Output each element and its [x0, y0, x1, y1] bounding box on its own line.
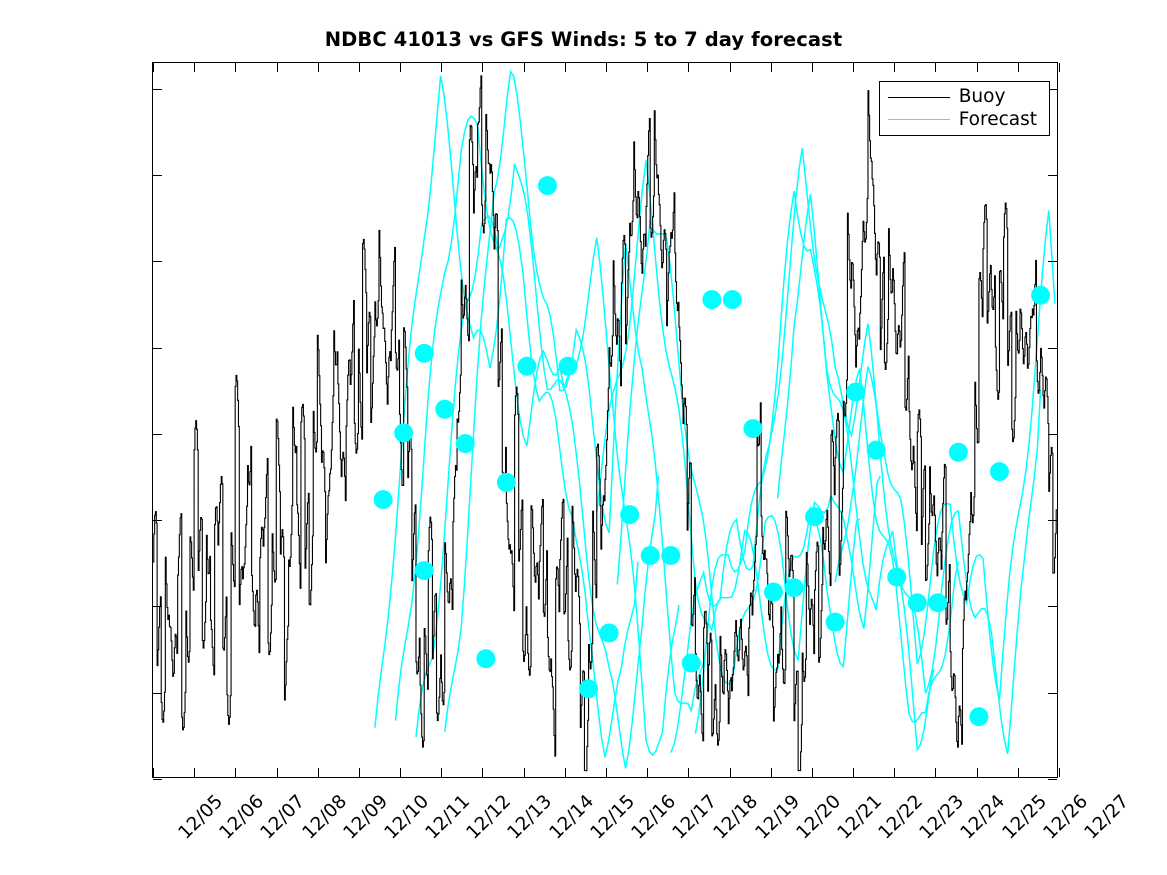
forecast-marker-point	[887, 568, 906, 587]
y-axis-tick-mark	[1048, 434, 1057, 435]
x-axis-tick-mark	[977, 63, 978, 72]
forecast-marker-point	[641, 546, 660, 565]
buoy-series-group	[153, 76, 1057, 771]
x-axis-tick-mark	[812, 63, 813, 72]
figure-canvas: NDBC 41013 vs GFS Winds: 5 to 7 day fore…	[0, 0, 1167, 875]
x-axis-tick-mark	[935, 63, 936, 72]
y-axis-tick-mark	[153, 434, 162, 435]
x-axis-tick-mark	[153, 63, 154, 72]
forecast-marker-point	[928, 593, 947, 612]
x-axis-tick-mark	[688, 768, 689, 777]
y-axis-tick-mark	[153, 606, 162, 607]
y-axis-tick-mark	[153, 693, 162, 694]
x-axis-tick-label: 12/15	[586, 791, 639, 844]
x-axis-tick-label: 12/09	[339, 791, 392, 844]
x-axis-tick-label: 12/07	[257, 791, 310, 844]
x-axis-tick-mark	[359, 768, 360, 777]
forecast-marker-point	[723, 290, 742, 309]
x-axis-tick-label: 12/06	[216, 791, 269, 844]
forecast-marker-point	[949, 443, 968, 462]
x-axis-tick-label: 12/17	[669, 791, 722, 844]
y-axis-tick-mark	[1048, 348, 1057, 349]
y-axis-tick-mark	[1048, 606, 1057, 607]
x-axis-tick-mark	[1059, 63, 1060, 72]
legend-line-forecast	[888, 119, 950, 120]
x-axis-tick-mark	[894, 768, 895, 777]
x-axis-tick-mark	[482, 63, 483, 72]
x-axis-tick-mark	[194, 63, 195, 72]
legend-entry-forecast: Forecast	[888, 111, 1037, 130]
forecast-marker-point	[497, 473, 516, 492]
x-axis-tick-mark	[935, 768, 936, 777]
y-axis-tick-mark	[153, 175, 162, 176]
x-axis-tick-mark	[235, 768, 236, 777]
forecast-marker-point	[702, 290, 721, 309]
x-axis-tick-mark	[153, 768, 154, 777]
x-axis-tick-mark	[606, 768, 607, 777]
y-axis-tick-mark	[153, 89, 162, 90]
x-axis-tick-mark	[730, 768, 731, 777]
forecast-marker-point	[538, 176, 557, 195]
x-axis-tick-mark	[441, 768, 442, 777]
x-axis-tick-mark	[977, 768, 978, 777]
chart-legend[interactable]: Buoy Forecast	[879, 81, 1050, 136]
chart-svg	[153, 63, 1057, 777]
forecast-marker-point	[559, 357, 578, 376]
x-axis-tick-label: 12/25	[998, 791, 1051, 844]
forecast-marker-point	[826, 613, 845, 632]
forecast-marker-point	[682, 654, 701, 673]
x-axis-tick-mark	[894, 63, 895, 72]
x-axis-tick-label: 12/14	[545, 791, 598, 844]
legend-line-buoy	[888, 97, 950, 98]
x-axis-tick-mark	[565, 63, 566, 72]
x-axis-tick-label: 12/10	[381, 791, 434, 844]
x-axis-tick-label: 12/19	[751, 791, 804, 844]
x-axis-tick-label: 12/24	[957, 791, 1010, 844]
x-axis-tick-label: 12/22	[875, 791, 928, 844]
forecast-marker-point	[415, 344, 434, 363]
x-axis-tick-mark	[812, 768, 813, 777]
x-axis-tick-label: 12/26	[1039, 791, 1092, 844]
forecast-marker-point	[846, 383, 865, 402]
x-axis-tick-mark	[482, 768, 483, 777]
x-axis-tick-label: 12/20	[792, 791, 845, 844]
x-axis-tick-mark	[688, 63, 689, 72]
forecast-marker-point	[661, 546, 680, 565]
forecast-marker-point	[456, 434, 475, 453]
forecast-marker-point	[908, 593, 927, 612]
x-axis-tick-label: 12/16	[628, 791, 681, 844]
x-axis-tick-label: 12/13	[504, 791, 557, 844]
forecast-marker-point	[785, 578, 804, 597]
legend-label-buoy: Buoy	[959, 88, 1006, 107]
x-axis-tick-mark	[730, 63, 731, 72]
forecast-member-line	[445, 72, 708, 732]
forecast-marker-point	[867, 441, 886, 460]
x-axis-tick-label: 12/05	[175, 791, 228, 844]
x-axis-tick-mark	[400, 63, 401, 72]
x-axis-tick-mark	[359, 63, 360, 72]
forecast-marker-point	[476, 649, 495, 668]
x-axis-tick-mark	[1059, 768, 1060, 777]
x-axis-tick-mark	[318, 63, 319, 72]
forecast-marker-point	[435, 400, 454, 419]
x-axis-tick-mark	[277, 63, 278, 72]
x-axis-tick-label: 12/08	[298, 791, 351, 844]
x-axis-tick-mark	[606, 63, 607, 72]
x-axis-tick-mark	[771, 768, 772, 777]
forecast-member-line	[695, 191, 958, 734]
x-axis-tick-label: 12/18	[710, 791, 763, 844]
chart-title: NDBC 41013 vs GFS Winds: 5 to 7 day fore…	[0, 28, 1167, 51]
forecast-marker-point	[969, 707, 988, 726]
x-axis-tick-mark	[277, 768, 278, 777]
y-axis-tick-mark	[153, 779, 162, 780]
y-axis-tick-mark	[1048, 779, 1057, 780]
x-axis-tick-mark	[441, 63, 442, 72]
y-axis-tick-mark	[1048, 520, 1057, 521]
plot-area: Buoy Forecast 0246810121416 12/0512/0612…	[152, 62, 1058, 778]
x-axis-tick-mark	[400, 768, 401, 777]
legend-entry-buoy: Buoy	[888, 88, 1037, 107]
forecast-marker-point	[743, 419, 762, 438]
forecast-marker-point	[579, 679, 598, 698]
x-axis-tick-mark	[194, 768, 195, 777]
x-axis-tick-label: 12/21	[834, 791, 887, 844]
forecast-marker-point	[1031, 286, 1050, 305]
x-axis-tick-mark	[235, 63, 236, 72]
forecast-marker-point	[374, 490, 393, 509]
forecast-marker-point	[415, 561, 434, 580]
x-axis-tick-label: 12/12	[463, 791, 516, 844]
x-axis-tick-mark	[1018, 63, 1019, 72]
x-axis-tick-mark	[853, 63, 854, 72]
y-axis-tick-mark	[1048, 261, 1057, 262]
forecast-marker-point	[805, 507, 824, 526]
y-axis-tick-mark	[153, 348, 162, 349]
forecast-member-line	[375, 76, 638, 758]
forecast-marker-point	[600, 623, 619, 642]
x-axis-tick-label: 12/23	[916, 791, 969, 844]
x-axis-tick-label: 12/11	[422, 791, 475, 844]
forecast-member-line	[597, 160, 860, 670]
legend-label-forecast: Forecast	[959, 111, 1037, 130]
y-axis-tick-mark	[153, 261, 162, 262]
x-axis-tick-mark	[565, 768, 566, 777]
x-axis-tick-mark	[1018, 768, 1019, 777]
forecast-marker-point	[620, 505, 639, 524]
x-axis-tick-mark	[647, 768, 648, 777]
x-axis-tick-mark	[524, 768, 525, 777]
y-axis-tick-mark	[153, 520, 162, 521]
forecast-marker-point	[764, 583, 783, 602]
x-axis-tick-label: 12/27	[1081, 791, 1134, 844]
forecast-marker-point	[394, 423, 413, 442]
y-axis-tick-mark	[1048, 693, 1057, 694]
y-axis-tick-mark	[1048, 175, 1057, 176]
x-axis-tick-mark	[853, 768, 854, 777]
forecast-member-line	[617, 220, 880, 684]
x-axis-tick-mark	[647, 63, 648, 72]
x-axis-tick-mark	[524, 63, 525, 72]
x-axis-tick-mark	[771, 63, 772, 72]
x-axis-tick-mark	[318, 768, 319, 777]
forecast-marker-point	[990, 462, 1009, 481]
forecast-marker-point	[517, 357, 536, 376]
buoy-step-line	[153, 76, 1057, 771]
